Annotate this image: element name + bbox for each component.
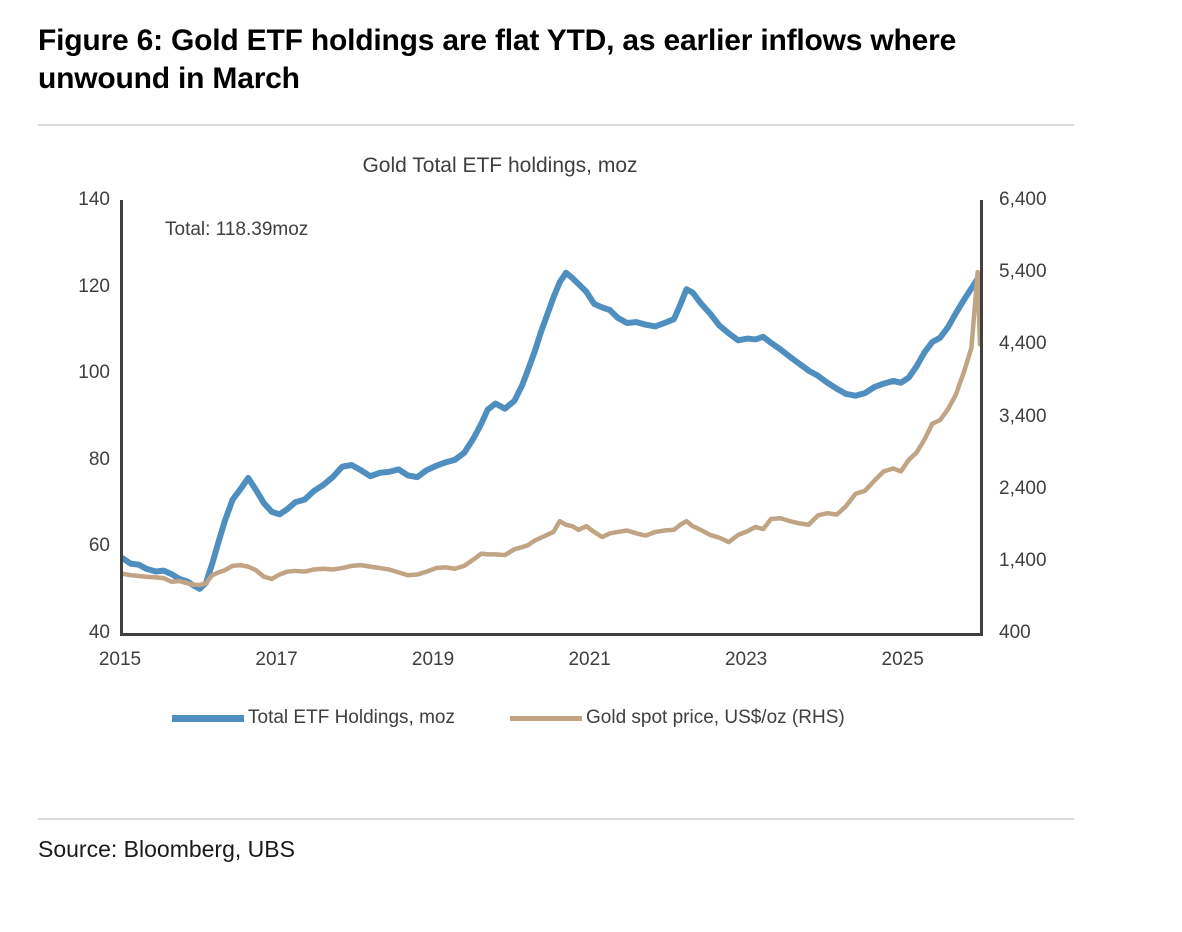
right-axis-tick-label: 2,400	[999, 478, 1079, 500]
x-axis-tick-label: 2015	[80, 649, 160, 671]
series-line	[123, 273, 980, 589]
series-canvas	[123, 200, 980, 633]
figure-title: Figure 6: Gold ETF holdings are flat YTD…	[38, 22, 1078, 99]
legend-item-gold-spot: Gold spot price, US$/oz (RHS)	[510, 707, 845, 729]
right-axis-tick-label: 5,400	[999, 261, 1079, 283]
legend-swatch-etf-holdings	[172, 715, 244, 722]
left-axis-tick-label: 100	[48, 362, 110, 384]
source-divider	[38, 818, 1074, 820]
figure-page: Figure 6: Gold ETF holdings are flat YTD…	[0, 0, 1182, 932]
left-axis-tick-label: 80	[48, 449, 110, 471]
left-axis-tick-label: 60	[48, 535, 110, 557]
chart-legend: Total ETF Holdings, moz Gold spot price,…	[120, 707, 977, 741]
series-line	[123, 272, 980, 585]
legend-swatch-gold-spot	[510, 716, 582, 721]
legend-label-etf-holdings: Total ETF Holdings, moz	[248, 707, 455, 729]
x-axis-tick-label: 2017	[237, 649, 317, 671]
source-note: Source: Bloomberg, UBS	[38, 836, 295, 863]
x-axis-tick-label: 2023	[706, 649, 786, 671]
right-axis-tick-label: 400	[999, 622, 1079, 644]
title-divider	[38, 124, 1074, 126]
right-axis-tick-label: 1,400	[999, 550, 1079, 572]
right-axis-tick-label: 3,400	[999, 406, 1079, 428]
legend-item-etf-holdings: Total ETF Holdings, moz	[172, 707, 455, 729]
left-axis-tick-label: 120	[48, 276, 110, 298]
x-axis-tick-label: 2021	[550, 649, 630, 671]
chart-container: Gold Total ETF holdings, moz Total: 118.…	[0, 140, 1090, 760]
right-axis-tick-label: 6,400	[999, 189, 1079, 211]
right-axis-tick-label: 4,400	[999, 333, 1079, 355]
chart-title: Gold Total ETF holdings, moz	[0, 154, 1000, 178]
plot-area	[120, 200, 983, 636]
x-axis-tick-label: 2025	[863, 649, 943, 671]
x-axis-tick-label: 2019	[393, 649, 473, 671]
legend-label-gold-spot: Gold spot price, US$/oz (RHS)	[586, 707, 845, 729]
left-axis-tick-label: 40	[48, 622, 110, 644]
left-axis-tick-label: 140	[48, 189, 110, 211]
